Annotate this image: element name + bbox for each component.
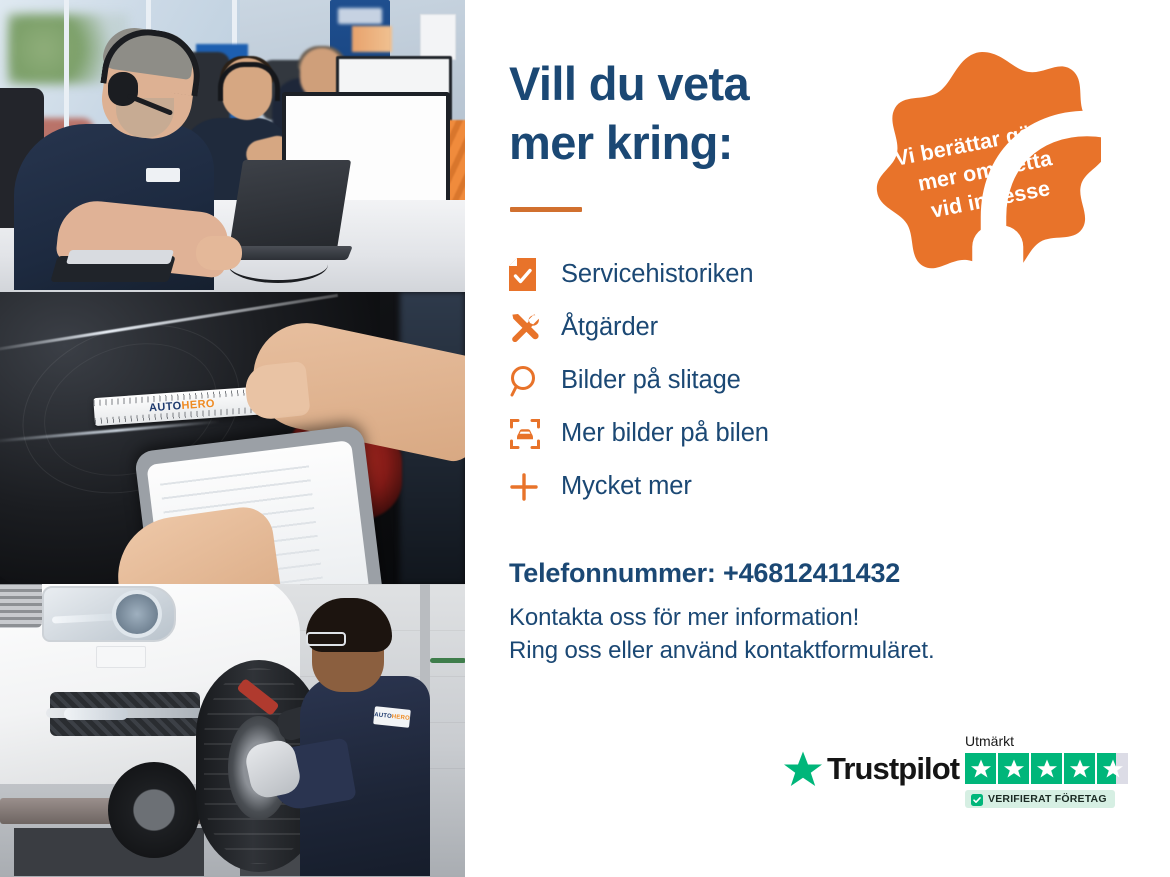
feature-item-servicehistoriken: Servicehistoriken: [509, 248, 929, 301]
desk-notebook: [66, 250, 174, 264]
star-half-filled: [1097, 753, 1128, 784]
colleague-headset: [218, 62, 280, 101]
logo-hero-text: HERO: [181, 398, 215, 412]
trustpilot-brand-name: Trustpilot: [827, 751, 959, 787]
checklist-document-icon: [509, 258, 561, 291]
safety-glasses: [306, 632, 346, 646]
star-filled: [998, 753, 1029, 784]
page-title: Vill du veta mer kring:: [509, 54, 849, 172]
tyre-service-photo: AUTOHERO: [0, 584, 465, 877]
verified-company-badge: VERIFIERAT FÖRETAG: [965, 790, 1115, 808]
mounted-wheel: [108, 762, 200, 858]
license-plate-area: [96, 646, 146, 668]
inspector-fingers: [243, 361, 310, 421]
content-panel: Vill du veta mer kring: Vi berättar gärn…: [465, 0, 1170, 877]
verified-company-label: VERIFIERAT FÖRETAG: [988, 793, 1107, 805]
wall-poster-image: [352, 26, 392, 52]
feature-list: Servicehistoriken Åtgärder: [509, 248, 929, 513]
fog-light: [64, 708, 128, 720]
phone-number[interactable]: +46812411432: [723, 558, 900, 588]
photo-column: AUTOHERO: [0, 0, 465, 877]
car-inspection-photo: AUTOHERO: [0, 292, 465, 584]
trustpilot-widget[interactable]: Trustpilot Utmärkt: [783, 733, 1133, 817]
feature-label: Åtgärder: [561, 313, 658, 342]
trustpilot-logo: Trustpilot: [783, 749, 959, 789]
title-underline-rule: [510, 207, 582, 212]
feature-item-mycket-mer: Mycket mer: [509, 460, 929, 513]
trustpilot-star-icon: [783, 749, 823, 789]
logo-auto-text: AUTO: [149, 400, 182, 414]
contact-line-2: Ring oss eller använd kontaktformuläret.: [509, 635, 935, 668]
trustpilot-rating-word: Utmärkt: [965, 733, 1135, 749]
feature-label: Bilder på slitage: [561, 366, 741, 395]
promo-page: AUTOHERO: [0, 0, 1170, 877]
magnifier-icon: [509, 365, 561, 397]
car-grille: [0, 584, 42, 628]
agent-name-badge: [146, 168, 180, 182]
green-hose: [430, 658, 465, 663]
trustpilot-star-rating: [965, 753, 1135, 784]
star-filled: [1031, 753, 1062, 784]
tools-wrench-screwdriver-icon: [509, 312, 561, 344]
plus-icon: [509, 472, 561, 502]
feature-item-atgarder: Åtgärder: [509, 301, 929, 354]
trustpilot-rating: Utmärkt: [965, 733, 1135, 811]
feature-label: Servicehistoriken: [561, 260, 753, 289]
call-center-photo: [0, 0, 465, 292]
star-filled: [965, 753, 996, 784]
logo-hero-text: HERO: [391, 714, 410, 722]
headline-line-2: mer kring:: [509, 113, 849, 172]
contact-line-1: Kontakta oss för mer information!: [509, 602, 935, 635]
wall-poster-text: [338, 8, 382, 24]
feature-item-bilder-pa-slitage: Bilder på slitage: [509, 354, 929, 407]
logo-auto-text: AUTO: [374, 712, 392, 720]
car-scan-icon: [509, 418, 561, 450]
feature-label: Mycket mer: [561, 472, 692, 501]
headline-line-1: Vill du veta: [509, 54, 849, 113]
contact-instructions: Kontakta oss för mer information! Ring o…: [509, 602, 935, 667]
feature-label: Mer bilder på bilen: [561, 419, 769, 448]
agent-hand: [196, 236, 242, 270]
cable: [228, 246, 328, 283]
feature-item-mer-bilder-pa-bilen: Mer bilder på bilen: [509, 407, 929, 460]
phone-line: Telefonnummer: +46812411432: [509, 558, 900, 589]
wall-notice: [420, 14, 456, 60]
headlight-projector: [112, 590, 162, 638]
verified-check-icon: [971, 793, 983, 805]
star-filled: [1064, 753, 1095, 784]
laptop-screen: [229, 160, 351, 250]
phone-label: Telefonnummer:: [509, 558, 716, 588]
